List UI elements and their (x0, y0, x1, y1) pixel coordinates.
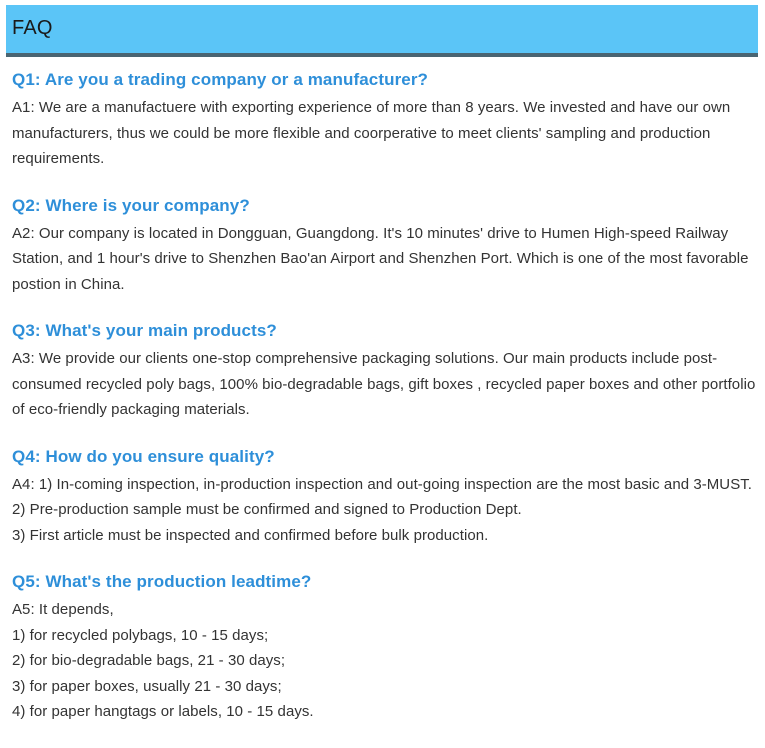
faq-answer: A5: It depends, 1) for recycled polybags… (12, 597, 757, 725)
faq-question: Q1: Are you a trading company or a manuf… (12, 68, 757, 92)
faq-answer-line: 2) Pre-production sample must be confirm… (12, 497, 757, 523)
faq-list: Q1: Are you a trading company or a manuf… (12, 68, 757, 725)
faq-item: Q2: Where is your company? A2: Our compa… (12, 194, 757, 298)
faq-answer: A4: 1) In-coming inspection, in-producti… (12, 472, 757, 549)
faq-answer-line: A5: It depends, (12, 597, 757, 623)
faq-answer-line: 4) for paper hangtags or labels, 10 - 15… (12, 699, 757, 725)
faq-answer-line: 3) for paper boxes, usually 21 - 30 days… (12, 674, 757, 700)
faq-answer-line: A1: We are a manufactuere with exporting… (12, 95, 757, 172)
faq-answer-line: 3) First article must be inspected and c… (12, 523, 757, 549)
faq-answer-line: 2) for bio-degradable bags, 21 - 30 days… (12, 648, 757, 674)
faq-item: Q3: What's your main products? A3: We pr… (12, 319, 757, 423)
faq-banner: FAQ (6, 5, 758, 57)
faq-page: FAQ Q1: Are you a trading company or a m… (0, 0, 765, 748)
faq-answer-line: A2: Our company is located in Dongguan, … (12, 221, 757, 298)
faq-item: Q5: What's the production leadtime? A5: … (12, 570, 757, 725)
faq-item: Q1: Are you a trading company or a manuf… (12, 68, 757, 172)
faq-answer: A2: Our company is located in Dongguan, … (12, 221, 757, 298)
faq-question: Q4: How do you ensure quality? (12, 445, 757, 469)
faq-answer: A3: We provide our clients one-stop comp… (12, 346, 757, 423)
faq-answer: A1: We are a manufactuere with exporting… (12, 95, 757, 172)
faq-question: Q5: What's the production leadtime? (12, 570, 757, 594)
faq-question: Q3: What's your main products? (12, 319, 757, 343)
faq-answer-line: 1) for recycled polybags, 10 - 15 days; (12, 623, 757, 649)
faq-item: Q4: How do you ensure quality? A4: 1) In… (12, 445, 757, 549)
faq-question: Q2: Where is your company? (12, 194, 757, 218)
faq-answer-line: A4: 1) In-coming inspection, in-producti… (12, 472, 757, 498)
faq-banner-title: FAQ (12, 14, 53, 42)
faq-answer-line: A3: We provide our clients one-stop comp… (12, 346, 757, 423)
